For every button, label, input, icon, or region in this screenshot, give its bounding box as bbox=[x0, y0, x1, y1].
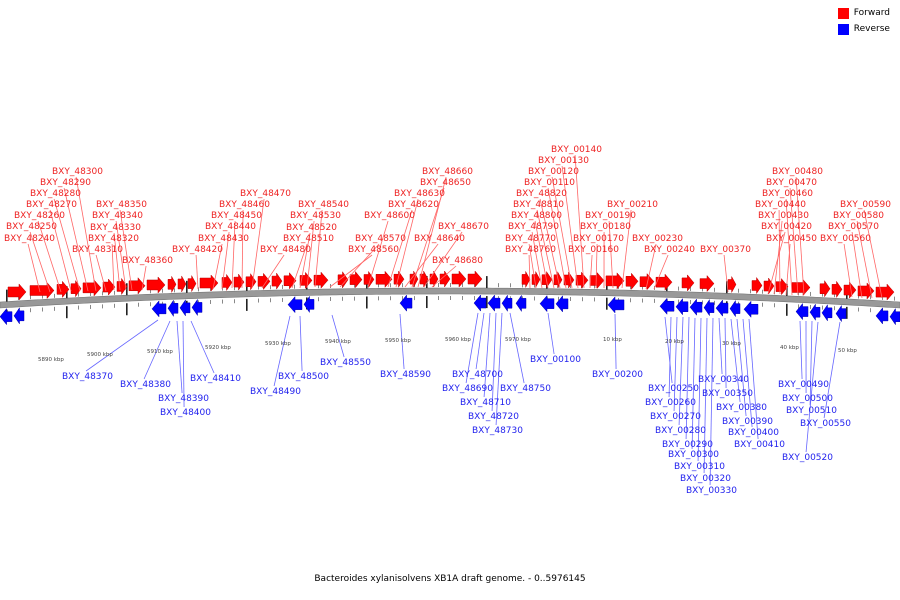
gene-arrow-reverse[interactable] bbox=[474, 295, 486, 311]
leader-line-reverse bbox=[492, 313, 496, 411]
gene-arrow-forward[interactable] bbox=[728, 276, 736, 292]
gene-label-reverse[interactable]: BXY_00550 bbox=[800, 419, 851, 429]
gene-arrow-forward[interactable] bbox=[272, 273, 282, 289]
gene-label-forward[interactable]: BXY_48310 bbox=[72, 245, 123, 255]
gene-arrow-reverse[interactable] bbox=[288, 297, 302, 313]
gene-label-reverse[interactable]: BXY_00500 bbox=[782, 394, 833, 404]
axis-tick-minor bbox=[462, 296, 463, 300]
forward-color-swatch bbox=[838, 8, 849, 19]
axis-tick-minor bbox=[762, 303, 763, 307]
gene-label-forward[interactable]: BXY_48300 bbox=[52, 167, 103, 177]
leader-line-reverse bbox=[674, 317, 677, 411]
gene-label-forward[interactable]: BXY_48660 bbox=[422, 167, 473, 177]
axis-tick-label: 5910 kbp bbox=[147, 349, 173, 355]
gene-arrow-reverse[interactable] bbox=[14, 308, 24, 324]
gene-label-forward[interactable]: BXY_48350 bbox=[96, 200, 147, 210]
gene-arrow-reverse[interactable] bbox=[608, 297, 624, 313]
gene-label-forward[interactable]: BXY_00180 bbox=[580, 222, 631, 232]
gene-label-forward[interactable]: BXY_48240 bbox=[4, 234, 55, 244]
gene-label-forward[interactable]: BXY_48520 bbox=[286, 223, 337, 233]
gene-label-forward[interactable]: BXY_48340 bbox=[92, 211, 143, 221]
axis-tick-major bbox=[30, 295, 31, 299]
axis-tick-minor bbox=[258, 299, 259, 303]
gene-arrow-reverse[interactable] bbox=[556, 296, 568, 312]
gene-label-forward[interactable]: BXY_48540 bbox=[298, 200, 349, 210]
leader-line-reverse bbox=[737, 319, 746, 416]
gene-label-reverse[interactable]: BXY_48380 bbox=[120, 380, 171, 390]
axis-tick-major bbox=[486, 276, 488, 288]
axis-tick-minor bbox=[210, 300, 211, 304]
axis-tick-minor bbox=[786, 304, 788, 316]
gene-label-forward[interactable]: BXY_00560 bbox=[820, 234, 871, 244]
axis-tick-label: 5970 kbp bbox=[505, 337, 531, 343]
gene-arrow-reverse[interactable] bbox=[516, 295, 526, 311]
axis-tick-minor bbox=[810, 305, 811, 309]
axis-tick-minor bbox=[582, 297, 583, 301]
axis-tick-minor bbox=[534, 296, 535, 300]
gene-label-reverse[interactable]: BXY_00410 bbox=[734, 440, 785, 450]
leader-line-reverse bbox=[332, 315, 344, 357]
axis-tick-label: 40 kbp bbox=[780, 345, 799, 351]
axis-tick-minor bbox=[654, 299, 655, 303]
gene-label-reverse[interactable]: BXY_48700 bbox=[452, 370, 503, 380]
axis-tick-label: 5920 kbp bbox=[205, 345, 231, 351]
gene-label-forward[interactable]: BXY_00190 bbox=[585, 211, 636, 221]
legend-item-reverse: Reverse bbox=[838, 22, 890, 36]
gene-label-forward[interactable]: BXY_48770 bbox=[505, 234, 556, 244]
gene-label-reverse[interactable]: BXY_00520 bbox=[782, 453, 833, 463]
gene-arrow-forward[interactable] bbox=[656, 274, 672, 290]
axis-tick-major bbox=[738, 289, 739, 293]
gene-arrow-forward[interactable] bbox=[832, 281, 842, 297]
gene-arrow-forward[interactable] bbox=[626, 273, 638, 289]
axis-tick-major bbox=[174, 288, 175, 292]
axis-tick-minor bbox=[366, 296, 368, 308]
gene-label-forward[interactable]: BXY_00210 bbox=[607, 200, 658, 210]
axis-tick-minor bbox=[390, 296, 391, 300]
gene-arrow-forward[interactable] bbox=[8, 284, 26, 300]
axis-tick-major bbox=[762, 290, 763, 294]
axis-tick-major bbox=[270, 285, 271, 289]
gene-arrow-reverse[interactable] bbox=[676, 299, 688, 315]
gene-label-forward[interactable]: BXY_00160 bbox=[568, 245, 619, 255]
axis-tick-minor bbox=[150, 302, 151, 306]
genome-track-graphics bbox=[0, 0, 900, 600]
axis-tick-minor bbox=[42, 308, 43, 312]
axis-tick-label: 30 kbp bbox=[722, 341, 741, 347]
gene-label-reverse[interactable]: BXY_00280 bbox=[655, 426, 706, 436]
gene-label-forward[interactable]: BXY_00580 bbox=[833, 211, 884, 221]
leader-line-forward bbox=[28, 244, 40, 292]
gene-label-forward[interactable]: BXY_00440 bbox=[755, 200, 806, 210]
gene-label-reverse[interactable]: BXY_00320 bbox=[680, 474, 731, 484]
axis-tick-minor bbox=[642, 299, 643, 303]
gene-label-forward[interactable]: BXY_00480 bbox=[772, 167, 823, 177]
axis-tick-minor bbox=[330, 297, 331, 301]
gene-label-forward[interactable]: BXY_48560 bbox=[348, 245, 399, 255]
gene-label-forward[interactable]: BXY_48790 bbox=[508, 222, 559, 232]
axis-tick-major bbox=[678, 287, 679, 291]
axis-tick-minor bbox=[318, 297, 319, 301]
leader-line-reverse bbox=[300, 316, 302, 371]
axis-tick-label: 5940 kbp bbox=[325, 339, 351, 345]
leader-line-forward bbox=[529, 255, 530, 288]
gene-label-forward[interactable]: BXY_48460 bbox=[219, 200, 270, 210]
gene-label-forward[interactable]: BXY_00450 bbox=[766, 234, 817, 244]
axis-tick-minor bbox=[870, 308, 871, 312]
gene-arrow-forward[interactable] bbox=[820, 281, 830, 297]
gene-label-reverse[interactable]: BXY_48400 bbox=[160, 408, 211, 418]
leader-line-reverse bbox=[510, 313, 524, 383]
axis-tick-label: 10 kbp bbox=[603, 337, 622, 343]
axis-tick-label: 20 kbp bbox=[665, 339, 684, 345]
gene-arrow-forward[interactable] bbox=[752, 278, 762, 294]
gene-arrow-reverse[interactable] bbox=[192, 299, 202, 315]
gene-label-forward[interactable]: BXY_48630 bbox=[394, 189, 445, 199]
gene-arrow-reverse[interactable] bbox=[810, 304, 820, 320]
axis-tick-minor bbox=[342, 297, 343, 301]
gene-label-reverse[interactable]: BXY_48690 bbox=[442, 384, 493, 394]
axis-tick-minor bbox=[858, 308, 859, 312]
gene-label-forward[interactable]: BXY_48810 bbox=[513, 200, 564, 210]
axis-tick-minor bbox=[630, 298, 631, 302]
axis-tick-major bbox=[510, 283, 511, 287]
gene-label-forward[interactable]: BXY_48600 bbox=[364, 211, 415, 221]
gene-label-forward[interactable]: BXY_48420 bbox=[172, 245, 223, 255]
gene-label-reverse[interactable]: BXY_48500 bbox=[278, 372, 329, 382]
gene-label-forward[interactable]: BXY_48360 bbox=[122, 256, 173, 266]
gene-arrow-forward[interactable] bbox=[300, 272, 312, 288]
gene-label-forward[interactable]: BXY_48330 bbox=[90, 223, 141, 233]
genome-diagram: BXY_48240BXY_48250BXY_48260BXY_48270BXY_… bbox=[0, 0, 900, 600]
gene-arrow-forward[interactable] bbox=[792, 280, 810, 296]
axis-tick-minor bbox=[438, 296, 439, 300]
axis-tick-minor bbox=[474, 296, 475, 300]
axis-tick-label: 5950 kbp bbox=[385, 338, 411, 344]
gene-label-forward[interactable]: BXY_48450 bbox=[211, 211, 262, 221]
axis-tick-major bbox=[750, 289, 751, 293]
axis-tick-minor bbox=[450, 296, 451, 300]
gene-label-reverse[interactable]: BXY_00390 bbox=[722, 417, 773, 427]
gene-arrow-reverse[interactable] bbox=[660, 298, 674, 314]
axis-tick-minor bbox=[30, 308, 31, 312]
axis-tick-major bbox=[870, 295, 871, 299]
axis-tick-major bbox=[810, 292, 811, 296]
legend-label-reverse: Reverse bbox=[854, 24, 890, 34]
gene-label-forward[interactable]: BXY_48270 bbox=[26, 200, 77, 210]
gene-arrow-reverse[interactable] bbox=[704, 300, 714, 316]
gene-label-reverse[interactable]: BXY_48590 bbox=[380, 370, 431, 380]
gene-label-forward[interactable]: BXY_00370 bbox=[700, 245, 751, 255]
gene-label-forward[interactable]: BXY_00590 bbox=[840, 200, 891, 210]
axis-tick-minor bbox=[246, 299, 248, 311]
gene-label-reverse[interactable]: BXY_00340 bbox=[698, 375, 749, 385]
gene-arrow-forward[interactable] bbox=[178, 276, 186, 292]
gene-label-reverse[interactable]: BXY_48390 bbox=[158, 394, 209, 404]
gene-label-reverse[interactable]: BXY_00100 bbox=[530, 355, 581, 365]
gene-label-reverse[interactable]: BXY_00400 bbox=[728, 428, 779, 438]
gene-label-reverse[interactable]: BXY_48370 bbox=[62, 372, 113, 382]
gene-label-reverse[interactable]: BXY_00300 bbox=[668, 450, 719, 460]
gene-arrow-forward[interactable] bbox=[682, 275, 694, 291]
gene-label-reverse[interactable]: BXY_00270 bbox=[650, 412, 701, 422]
axis-tick-minor bbox=[426, 296, 428, 308]
gene-arrow-forward[interactable] bbox=[532, 272, 540, 288]
gene-label-reverse[interactable]: BXY_00350 bbox=[702, 389, 753, 399]
gene-label-reverse[interactable]: BXY_00380 bbox=[716, 403, 767, 413]
axis-tick-minor bbox=[690, 300, 691, 304]
axis-tick-major bbox=[294, 285, 295, 289]
leader-line-reverse bbox=[548, 313, 554, 354]
leader-line-reverse bbox=[679, 317, 683, 425]
gene-arrow-forward[interactable] bbox=[468, 271, 482, 287]
gene-label-forward[interactable]: BXY_48820 bbox=[516, 189, 567, 199]
axis-tick-major bbox=[186, 281, 188, 293]
axis-tick-minor bbox=[834, 306, 835, 310]
gene-arrow-forward[interactable] bbox=[542, 272, 552, 288]
axis-tick-major bbox=[162, 289, 163, 293]
gene-arrow-forward[interactable] bbox=[876, 284, 894, 300]
gene-label-forward[interactable]: BXY_48650 bbox=[420, 178, 471, 188]
gene-label-reverse[interactable]: BXY_00330 bbox=[686, 486, 737, 496]
gene-arrow-reverse[interactable] bbox=[180, 300, 190, 316]
gene-label-reverse[interactable]: BXY_00310 bbox=[674, 462, 725, 472]
gene-label-forward[interactable]: BXY_00120 bbox=[528, 167, 579, 177]
leader-line-reverse bbox=[496, 313, 502, 425]
axis-tick-major bbox=[390, 283, 391, 287]
gene-label-forward[interactable]: BXY_00470 bbox=[766, 178, 817, 188]
gene-arrow-reverse[interactable] bbox=[876, 308, 888, 324]
gene-arrow-reverse[interactable] bbox=[304, 296, 314, 312]
axis-tick-major bbox=[6, 290, 8, 302]
gene-label-forward[interactable]: BXY_48440 bbox=[205, 222, 256, 232]
axis-tick-minor bbox=[54, 307, 55, 311]
axis-tick-major bbox=[438, 283, 439, 287]
gene-label-reverse[interactable]: BXY_00290 bbox=[662, 440, 713, 450]
diagram-caption: Bacteroides xylanisolvens XB1A draft gen… bbox=[0, 574, 900, 584]
gene-arrow-forward[interactable] bbox=[606, 273, 624, 289]
axis-tick-minor bbox=[414, 296, 415, 300]
axis-tick-minor bbox=[378, 296, 379, 300]
gene-label-forward[interactable]: BXY_00420 bbox=[761, 222, 812, 232]
gene-label-reverse[interactable]: BXY_48410 bbox=[190, 374, 241, 384]
axis-tick-minor bbox=[66, 306, 68, 318]
leader-line-reverse bbox=[86, 320, 158, 371]
gene-arrow-forward[interactable] bbox=[258, 273, 270, 289]
axis-tick-minor bbox=[354, 297, 355, 301]
gene-label-forward[interactable]: BXY_48510 bbox=[283, 234, 334, 244]
axis-tick-label: 5930 kbp bbox=[265, 341, 291, 347]
leader-line-reverse bbox=[800, 321, 802, 379]
gene-label-forward[interactable]: BXY_00140 bbox=[551, 145, 602, 155]
gene-label-forward[interactable]: BXY_48800 bbox=[511, 211, 562, 221]
axis-tick-label: 5900 kbp bbox=[87, 352, 113, 358]
gene-label-forward[interactable]: BXY_48470 bbox=[240, 189, 291, 199]
gene-label-forward[interactable]: BXY_00110 bbox=[524, 178, 575, 188]
gene-arrow-reverse[interactable] bbox=[890, 309, 900, 325]
axis-tick-minor bbox=[90, 305, 91, 309]
axis-tick-minor bbox=[570, 297, 571, 301]
axis-tick-minor bbox=[774, 303, 775, 307]
gene-arrow-reverse[interactable] bbox=[540, 296, 554, 312]
legend-label-forward: Forward bbox=[854, 8, 890, 18]
axis-tick-major bbox=[54, 294, 55, 298]
leader-line-forward bbox=[196, 255, 198, 289]
gene-label-reverse[interactable]: BXY_48720 bbox=[468, 412, 519, 422]
gene-label-forward[interactable]: BXY_48260 bbox=[14, 211, 65, 221]
axis-tick-minor bbox=[234, 299, 235, 303]
axis-tick-minor bbox=[270, 298, 271, 302]
axis-tick-label: 5890 kbp bbox=[38, 357, 64, 363]
axis-tick-minor bbox=[606, 298, 608, 310]
gene-label-forward[interactable]: BXY_48680 bbox=[432, 256, 483, 266]
gene-label-forward[interactable]: BXY_48620 bbox=[388, 200, 439, 210]
gene-label-forward[interactable]: BXY_48320 bbox=[88, 234, 139, 244]
gene-label-forward[interactable]: BXY_48760 bbox=[505, 245, 556, 255]
axis-tick-major bbox=[402, 283, 403, 287]
gene-arrow-reverse[interactable] bbox=[796, 304, 808, 320]
gene-label-forward[interactable]: BXY_48570 bbox=[355, 234, 406, 244]
gene-label-forward[interactable]: BXY_48670 bbox=[438, 222, 489, 232]
gene-label-forward[interactable]: BXY_00170 bbox=[573, 234, 624, 244]
axis-tick-major bbox=[894, 297, 895, 301]
gene-label-forward[interactable]: BXY_00230 bbox=[632, 234, 683, 244]
axis-tick-minor bbox=[282, 298, 283, 302]
gene-label-reverse[interactable]: BXY_48750 bbox=[500, 384, 551, 394]
gene-label-reverse[interactable]: BXY_48550 bbox=[320, 358, 371, 368]
gene-label-forward[interactable]: BXY_48430 bbox=[198, 234, 249, 244]
gene-arrow-forward[interactable] bbox=[188, 276, 196, 292]
gene-arrow-reverse[interactable] bbox=[836, 306, 846, 322]
gene-arrow-reverse[interactable] bbox=[152, 301, 166, 317]
axis-tick-label: 50 kbp bbox=[838, 348, 857, 354]
axis-tick-minor bbox=[126, 303, 128, 315]
gene-label-reverse[interactable]: BXY_48490 bbox=[250, 387, 301, 397]
axis-tick-minor bbox=[114, 304, 115, 308]
gene-arrow-forward[interactable] bbox=[590, 272, 604, 288]
reverse-color-swatch bbox=[838, 24, 849, 35]
leader-line-reverse bbox=[476, 313, 484, 369]
axis-tick-minor bbox=[138, 303, 139, 307]
gene-arrow-reverse[interactable] bbox=[400, 295, 412, 311]
gene-label-reverse[interactable]: BXY_00200 bbox=[592, 370, 643, 380]
axis-tick-major bbox=[450, 283, 451, 287]
gene-label-reverse[interactable]: BXY_00510 bbox=[786, 406, 837, 416]
gene-label-forward[interactable]: BXY_48290 bbox=[40, 178, 91, 188]
gene-label-reverse[interactable]: BXY_48730 bbox=[472, 426, 523, 436]
gene-arrow-reverse[interactable] bbox=[822, 305, 832, 321]
gene-label-forward[interactable]: BXY_00460 bbox=[762, 189, 813, 199]
gene-arrow-forward[interactable] bbox=[430, 271, 438, 287]
legend-item-forward: Forward bbox=[838, 6, 890, 20]
axis-tick-minor bbox=[78, 306, 79, 310]
gene-label-forward[interactable]: BXY_00130 bbox=[538, 156, 589, 166]
gene-label-reverse[interactable]: BXY_48710 bbox=[460, 398, 511, 408]
gene-arrow-forward[interactable] bbox=[522, 271, 530, 287]
axis-tick-major bbox=[498, 283, 499, 287]
axis-tick-label: 5960 kbp bbox=[445, 337, 471, 343]
gene-arrow-reverse[interactable] bbox=[690, 299, 702, 315]
gene-label-forward[interactable]: BXY_48640 bbox=[414, 234, 465, 244]
axis-tick-minor bbox=[102, 304, 103, 308]
gene-arrow-reverse[interactable] bbox=[168, 300, 178, 316]
gene-arrow-reverse[interactable] bbox=[0, 309, 12, 325]
gene-label-forward[interactable]: BXY_48250 bbox=[6, 222, 57, 232]
gene-label-forward[interactable]: BXY_48480 bbox=[260, 245, 311, 255]
gene-arrow-reverse[interactable] bbox=[744, 301, 758, 317]
axis-tick-minor bbox=[594, 297, 595, 301]
axis-tick-minor bbox=[822, 306, 823, 310]
axis-tick-major bbox=[714, 288, 715, 292]
leader-line-reverse bbox=[177, 321, 182, 393]
gene-label-reverse[interactable]: BXY_00490 bbox=[778, 380, 829, 390]
gene-arrow-forward[interactable] bbox=[452, 271, 466, 287]
gene-label-forward[interactable]: BXY_00240 bbox=[644, 245, 695, 255]
gene-label-reverse[interactable]: BXY_00260 bbox=[645, 398, 696, 408]
axis-tick-minor bbox=[222, 300, 223, 304]
gene-label-forward[interactable]: BXY_00570 bbox=[828, 222, 879, 232]
gene-label-forward[interactable]: BXY_48530 bbox=[290, 211, 341, 221]
axis-tick-major bbox=[282, 285, 283, 289]
legend: Forward Reverse bbox=[838, 6, 890, 38]
gene-label-forward[interactable]: BXY_00430 bbox=[758, 211, 809, 221]
axis-tick-major bbox=[114, 291, 115, 295]
gene-label-reverse[interactable]: BXY_00250 bbox=[648, 384, 699, 394]
gene-label-forward[interactable]: BXY_48280 bbox=[30, 189, 81, 199]
